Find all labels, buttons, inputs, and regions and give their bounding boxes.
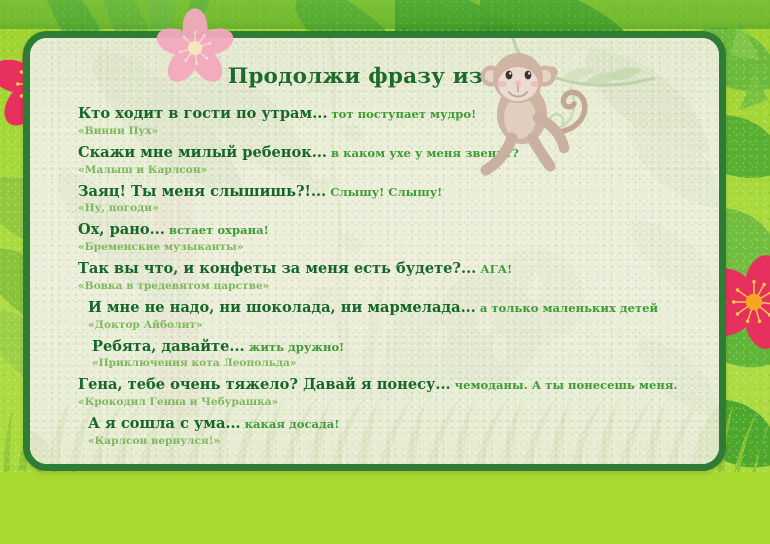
qa-item-6: И мне не надо, ни шоколада, ни мармелада…	[78, 299, 693, 334]
question-text: А я сошла с ума...	[88, 415, 241, 432]
qa-line: И мне не надо, ни шоколада, ни мармелада…	[88, 299, 693, 318]
content-panel: Продолжи фразу из М/Ф Кто ходит в гости …	[23, 31, 726, 471]
answer-text: какая досада!	[245, 417, 340, 431]
question-text: Так вы что, и конфеты за меня есть будет…	[78, 260, 476, 277]
question-text: Ребята, давайте...	[92, 338, 245, 355]
source-title: «Доктор Айболит»	[88, 318, 693, 334]
question-text: И мне не надо, ни шоколада, ни мармелада…	[88, 299, 476, 316]
top-green-band	[0, 0, 770, 29]
source-title: «Бременские музыканты»	[78, 240, 693, 256]
bottom-green-band	[0, 472, 770, 544]
qa-line: Ребята, давайте... жить дружно!	[92, 338, 693, 357]
cherry-blossom-top	[156, 8, 234, 88]
qa-item-7: Ребята, давайте... жить дружно! «Приключ…	[78, 338, 693, 373]
qa-item-8: Гена, тебе очень тяжело? Давай я понесу.…	[78, 376, 693, 411]
answer-text: чемоданы. А ты понесешь меня.	[455, 378, 678, 392]
qa-item-9: А я сошла с ума... какая досада! «Карлсо…	[78, 415, 693, 450]
qa-item-5: Так вы что, и конфеты за меня есть будет…	[78, 260, 693, 295]
source-title: «Приключения кота Леопольда»	[92, 356, 693, 372]
qa-item-4: Ох, рано... встает охрана! «Бременские м…	[78, 221, 693, 256]
question-text: Заяц! Ты меня слышишь?!...	[78, 183, 326, 200]
question-text: Кто ходит в гости по утрам...	[78, 105, 327, 122]
qa-line: Так вы что, и конфеты за меня есть будет…	[78, 260, 693, 279]
answer-text: встает охрана!	[169, 223, 269, 237]
answer-text: а только маленьких детей	[480, 301, 658, 315]
source-title: «Карлсон вернулся!»	[88, 434, 693, 450]
question-text: Ох, рано...	[78, 221, 165, 238]
qa-line: Ох, рано... встает охрана!	[78, 221, 693, 240]
poster: Продолжи фразу из М/Ф Кто ходит в гости …	[0, 0, 770, 544]
source-title: «Вовка в тредевятом царстве»	[78, 279, 693, 295]
qa-line: А я сошла с ума... какая досада!	[88, 415, 693, 434]
source-title: «Ну, погоди»	[78, 201, 693, 217]
question-text: Скажи мне милый ребенок...	[78, 144, 327, 161]
monkey-character	[450, 32, 660, 192]
answer-text: Слышу! Слышу!	[330, 185, 442, 199]
question-text: Гена, тебе очень тяжело? Давай я понесу.…	[78, 376, 451, 393]
answer-text: жить дружно!	[249, 340, 345, 354]
answer-text: АГА!	[480, 262, 512, 276]
source-title: «Крокодил Генна и Чебурашка»	[78, 395, 693, 411]
qa-line: Гена, тебе очень тяжело? Давай я понесу.…	[78, 376, 693, 395]
